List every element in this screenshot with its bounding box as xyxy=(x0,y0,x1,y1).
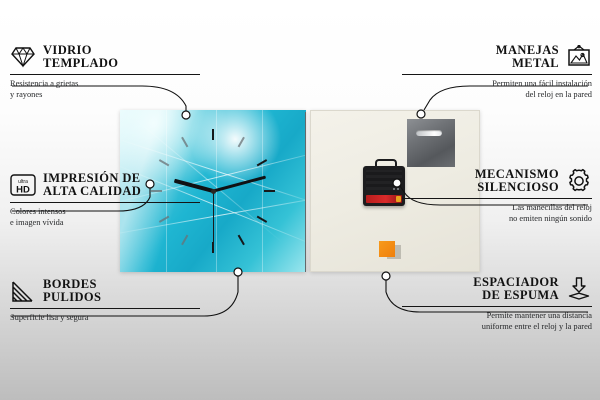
feature-header: BORDES PULIDOS xyxy=(10,278,200,304)
ultra-hd-icon: ultra HD xyxy=(10,172,36,198)
feature-title: ESPACIADOR DE ESPUMA xyxy=(473,276,559,302)
down-arrow-block-icon xyxy=(566,276,592,302)
mechanism-indicator xyxy=(397,188,399,190)
feature-header: ESPACIADOR DE ESPUMA xyxy=(402,276,592,302)
feature-divider xyxy=(10,74,200,75)
diamond-icon xyxy=(10,44,36,70)
feature-header: VIDRIO TEMPLADO xyxy=(10,44,200,70)
feature-title: MANEJAS METAL xyxy=(496,44,559,70)
mechanism-indicator xyxy=(393,188,395,190)
feature-title-line2: SILENCIOSO xyxy=(475,181,559,194)
feature-desc-line2: uniforme entre el reloj y la pared xyxy=(402,322,592,333)
feature-desc-line2: del reloj en la pared xyxy=(402,90,592,101)
feature-description: Colores intensos e imagen vívida xyxy=(10,207,200,228)
feature-description: Las manecillas del reloj no emiten ningú… xyxy=(402,203,592,224)
feature-mecanismo-silencioso: MECANISMO SILENCIOSO Las manecillas del … xyxy=(402,168,592,224)
feature-title: BORDES PULIDOS xyxy=(43,278,101,304)
feature-title: IMPRESIÓN DE ALTA CALIDAD xyxy=(43,172,141,198)
feature-title-line2: METAL xyxy=(496,57,559,70)
feature-desc-line2: no emiten ningún sonido xyxy=(402,214,592,225)
feature-divider xyxy=(10,202,200,203)
mechanism-body xyxy=(366,170,402,190)
foam-spacer xyxy=(379,241,395,257)
feature-espaciador-espuma: ESPACIADOR DE ESPUMA Permite mantener un… xyxy=(402,276,592,332)
feature-divider xyxy=(402,198,592,199)
feature-divider xyxy=(402,74,592,75)
gear-icon xyxy=(566,168,592,194)
feature-title-line2: DE ESPUMA xyxy=(473,289,559,302)
hour-marker xyxy=(213,190,275,192)
feature-desc-line2: e imagen vívida xyxy=(10,218,200,229)
feature-manejas-metal: MANEJAS METAL Permiten una fácil instala… xyxy=(402,44,592,100)
battery-terminal xyxy=(396,196,401,202)
feature-header: ultra HD IMPRESIÓN DE ALTA CALIDAD xyxy=(10,172,200,198)
feature-header: MECANISMO SILENCIOSO xyxy=(402,168,592,194)
second-hand xyxy=(213,191,214,249)
feature-vidrio-templado: VIDRIO TEMPLADO Resistencia a grietas y … xyxy=(10,44,200,100)
infographic-canvas: VIDRIO TEMPLADO Resistencia a grietas y … xyxy=(0,0,600,400)
hand-cap xyxy=(211,189,216,194)
connector-dot-espaciador xyxy=(382,272,390,280)
feature-description: Permite mantener una distancia uniforme … xyxy=(402,311,592,332)
feature-desc-line2: y rayones xyxy=(10,90,200,101)
feature-description: Resistencia a grietas y rayones xyxy=(10,79,200,100)
svg-text:HD: HD xyxy=(16,185,30,196)
feature-title-line2: ALTA CALIDAD xyxy=(43,185,141,198)
feature-bordes-pulidos: BORDES PULIDOS Superficie lisa y segura xyxy=(10,278,200,324)
feature-divider xyxy=(402,306,592,307)
diagonal-lines-icon xyxy=(10,278,36,304)
hanger-slot xyxy=(416,130,442,136)
feature-title: VIDRIO TEMPLADO xyxy=(43,44,118,70)
metal-hanger-plate xyxy=(407,119,455,167)
feature-title: MECANISMO SILENCIOSO xyxy=(475,168,559,194)
feature-desc-line1: Resistencia a grietas xyxy=(10,79,200,90)
hanging-frame-icon xyxy=(566,44,592,70)
feature-description: Permiten una fácil instalación del reloj… xyxy=(402,79,592,100)
feature-header: MANEJAS METAL xyxy=(402,44,592,70)
feature-desc-line1: Permiten una fácil instalación xyxy=(402,79,592,90)
hour-marker xyxy=(212,129,214,191)
feature-desc-line1: Superficie lisa y segura xyxy=(10,313,200,324)
feature-title-line2: PULIDOS xyxy=(43,291,101,304)
feature-title-line2: TEMPLADO xyxy=(43,57,118,70)
feature-impresion-alta-calidad: ultra HD IMPRESIÓN DE ALTA CALIDAD Color… xyxy=(10,172,200,228)
clock-mechanism xyxy=(363,166,405,206)
feature-desc-line1: Permite mantener una distancia xyxy=(402,311,592,322)
mechanism-handle xyxy=(375,159,397,170)
feature-divider xyxy=(10,308,200,309)
clock-glass-edge xyxy=(305,112,306,272)
feature-desc-line1: Colores intensos xyxy=(10,207,200,218)
feature-desc-line1: Las manecillas del reloj xyxy=(402,203,592,214)
feature-description: Superficie lisa y segura xyxy=(10,313,200,324)
